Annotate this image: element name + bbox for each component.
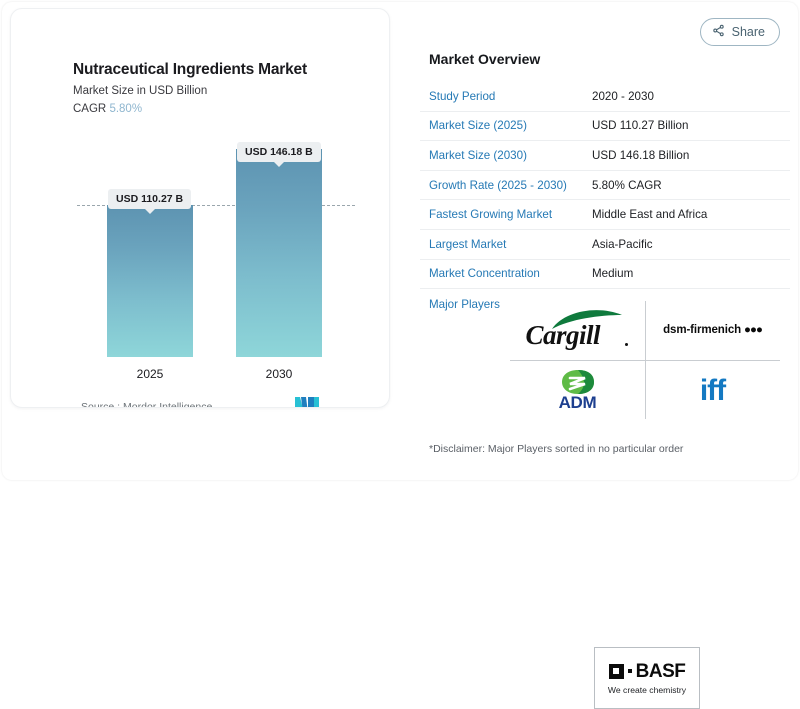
row-label-market-size-2030: Market Size (2030) <box>420 149 592 162</box>
row-label-growth-rate: Growth Rate (2025 - 2030) <box>420 179 592 192</box>
table-row: Growth Rate (2025 - 2030) 5.80% CAGR <box>420 171 790 201</box>
row-value-market-size-2025: USD 110.27 Billion <box>592 119 688 132</box>
table-row: Market Size (2025) USD 110.27 Billion <box>420 112 790 142</box>
basf-dot-icon <box>628 669 632 673</box>
share-icon <box>712 24 725 40</box>
cargill-logo-icon: Cargill <box>526 309 630 351</box>
table-row: Study Period 2020 - 2030 <box>420 82 790 112</box>
row-value-market-size-2030: USD 146.18 Billion <box>592 149 689 162</box>
bar-label-2025: USD 110.27 B <box>108 189 191 209</box>
adm-logo-icon: ADM <box>550 369 606 413</box>
row-label-largest-market: Largest Market <box>420 238 592 251</box>
row-value-fastest-growing-market: Middle East and Africa <box>592 208 707 221</box>
overview-title: Market Overview <box>429 51 540 67</box>
dsm-firmenich-wordmark-row: dsm-firmenich●●● <box>663 324 762 336</box>
row-label-study-period: Study Period <box>420 90 592 103</box>
share-button[interactable]: Share <box>700 18 780 46</box>
disclaimer-text: *Disclaimer: Major Players sorted in no … <box>429 443 683 455</box>
bar-2030[interactable] <box>236 149 322 357</box>
row-label-market-size-2025: Market Size (2025) <box>420 119 592 132</box>
x-tick-2025: 2025 <box>107 367 193 381</box>
basf-wordmark: BASF <box>636 662 686 681</box>
table-row: Market Concentration Medium <box>420 260 790 290</box>
table-row: Fastest Growing Market Middle East and A… <box>420 200 790 230</box>
player-logo-cargill: Cargill <box>510 299 645 360</box>
row-label-fastest-growing-market: Fastest Growing Market <box>420 208 592 221</box>
overview-table: Study Period 2020 - 2030 Market Size (20… <box>420 82 790 319</box>
market-overview-panel: Share Market Overview Study Period 2020 … <box>420 0 790 482</box>
player-logo-iff: iff <box>645 360 780 421</box>
row-label-market-concentration: Market Concentration <box>420 267 592 280</box>
basf-square-icon <box>609 664 624 679</box>
basf-logo-icon: BASF <box>609 662 686 681</box>
screenshot-root: Nutraceutical Ingredients Market Market … <box>0 0 800 482</box>
row-value-study-period: 2020 - 2030 <box>592 90 654 103</box>
cargill-registered-dot <box>625 343 628 346</box>
chart-source: Source : Mordor Intelligence <box>81 401 212 408</box>
player-logo-basf: BASF We create chemistry <box>594 647 700 709</box>
basf-tagline: We create chemistry <box>608 685 686 695</box>
row-value-growth-rate: 5.80% CAGR <box>592 179 662 192</box>
row-value-market-concentration: Medium <box>592 267 633 280</box>
table-row: Market Size (2030) USD 146.18 Billion <box>420 141 790 171</box>
share-button-label: Share <box>732 25 765 39</box>
iff-wordmark: iff <box>700 376 725 406</box>
bar-label-2030: USD 146.18 B <box>237 142 321 162</box>
dsm-firmenich-dots-icon: ●●● <box>744 324 762 336</box>
dsm-firmenich-wordmark: dsm-firmenich <box>663 324 741 336</box>
chart-card: Nutraceutical Ingredients Market Market … <box>10 8 390 408</box>
row-value-largest-market: Asia-Pacific <box>592 238 653 251</box>
bar-2025[interactable] <box>107 205 193 357</box>
cargill-wordmark: Cargill <box>526 320 601 351</box>
x-tick-2030: 2030 <box>236 367 322 381</box>
bar-chart-plot: USD 110.27 B USD 146.18 B 2025 2030 <box>11 9 390 408</box>
player-logo-dsm-firmenich: dsm-firmenich●●● <box>645 299 780 360</box>
player-logo-adm: ADM <box>510 360 645 421</box>
major-players-logo-grid: Cargill dsm-firmenich●●● ADM <box>510 299 780 421</box>
table-row: Largest Market Asia-Pacific <box>420 230 790 260</box>
mordor-intelligence-logo-icon <box>295 397 319 408</box>
adm-wordmark: ADM <box>550 393 606 413</box>
